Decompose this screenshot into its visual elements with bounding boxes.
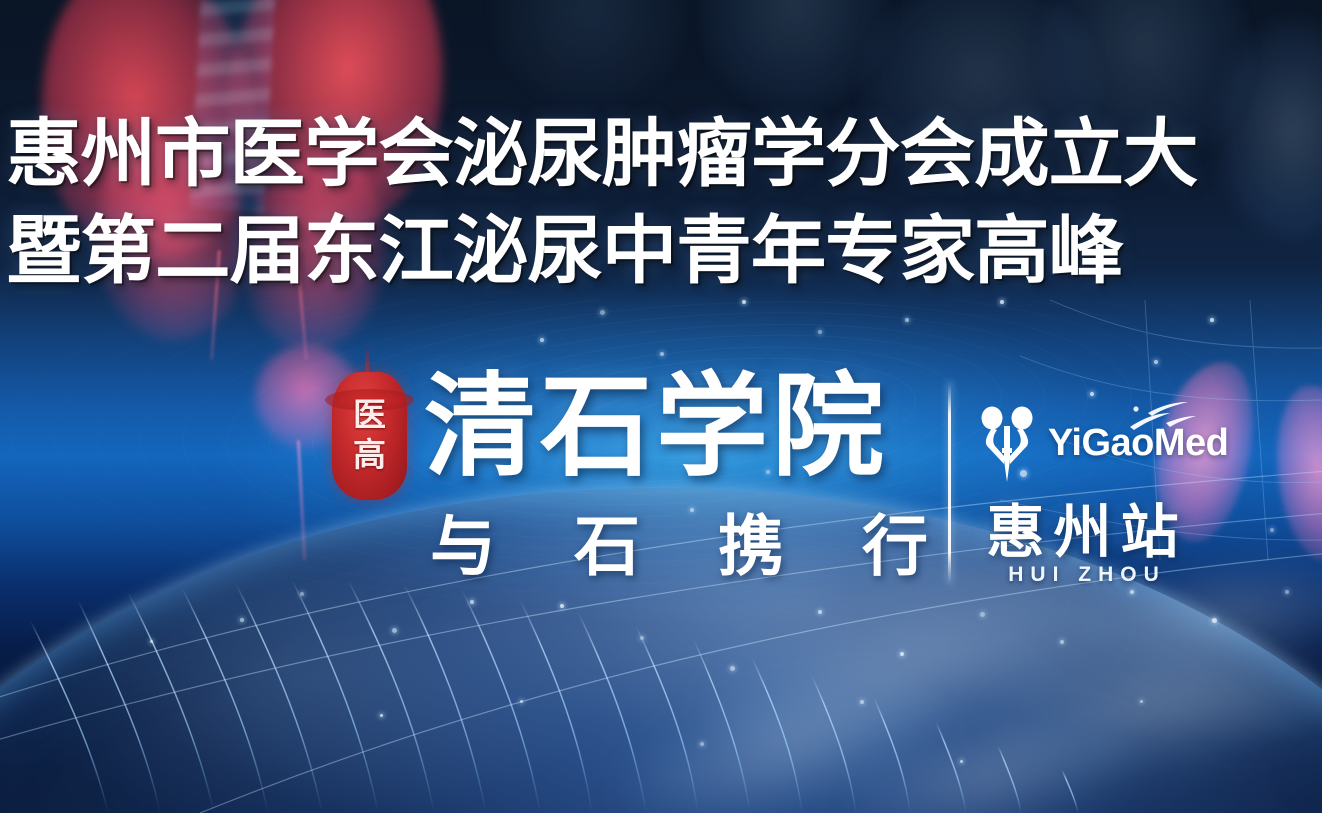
tagline-char-0: 与 — [430, 500, 498, 592]
academy-name: 清石学院 — [424, 368, 888, 486]
conference-banner: 惠州市医学会泌尿肿瘤学分会成立大 暨第二届东江泌尿中青年专家高峰 医 高 清石学… — [0, 0, 1322, 813]
academy-tagline: 与石携行 — [430, 500, 930, 592]
brand-block: YiGaoMed — [975, 400, 1215, 486]
seal-char-top: 医 — [353, 399, 386, 433]
brand-wordmark-wrap: YiGaoMed — [1048, 423, 1228, 463]
swoosh-icon — [1126, 401, 1198, 431]
seal-char-bottom: 高 — [353, 439, 386, 473]
tagline-char-2: 携 — [718, 500, 786, 592]
city-name-zh: 惠州站 — [962, 500, 1212, 566]
logo-lockup: 医 高 清石学院 与石携行 — [0, 0, 1322, 813]
tagline-char-1: 石 — [574, 500, 642, 592]
seal-characters: 医 高 — [332, 372, 407, 500]
kidneys-logo-icon — [975, 404, 1039, 482]
tagline-char-3: 行 — [862, 500, 930, 592]
city-name-en: HUI ZHOU — [960, 562, 1214, 588]
vertical-divider — [948, 382, 951, 584]
